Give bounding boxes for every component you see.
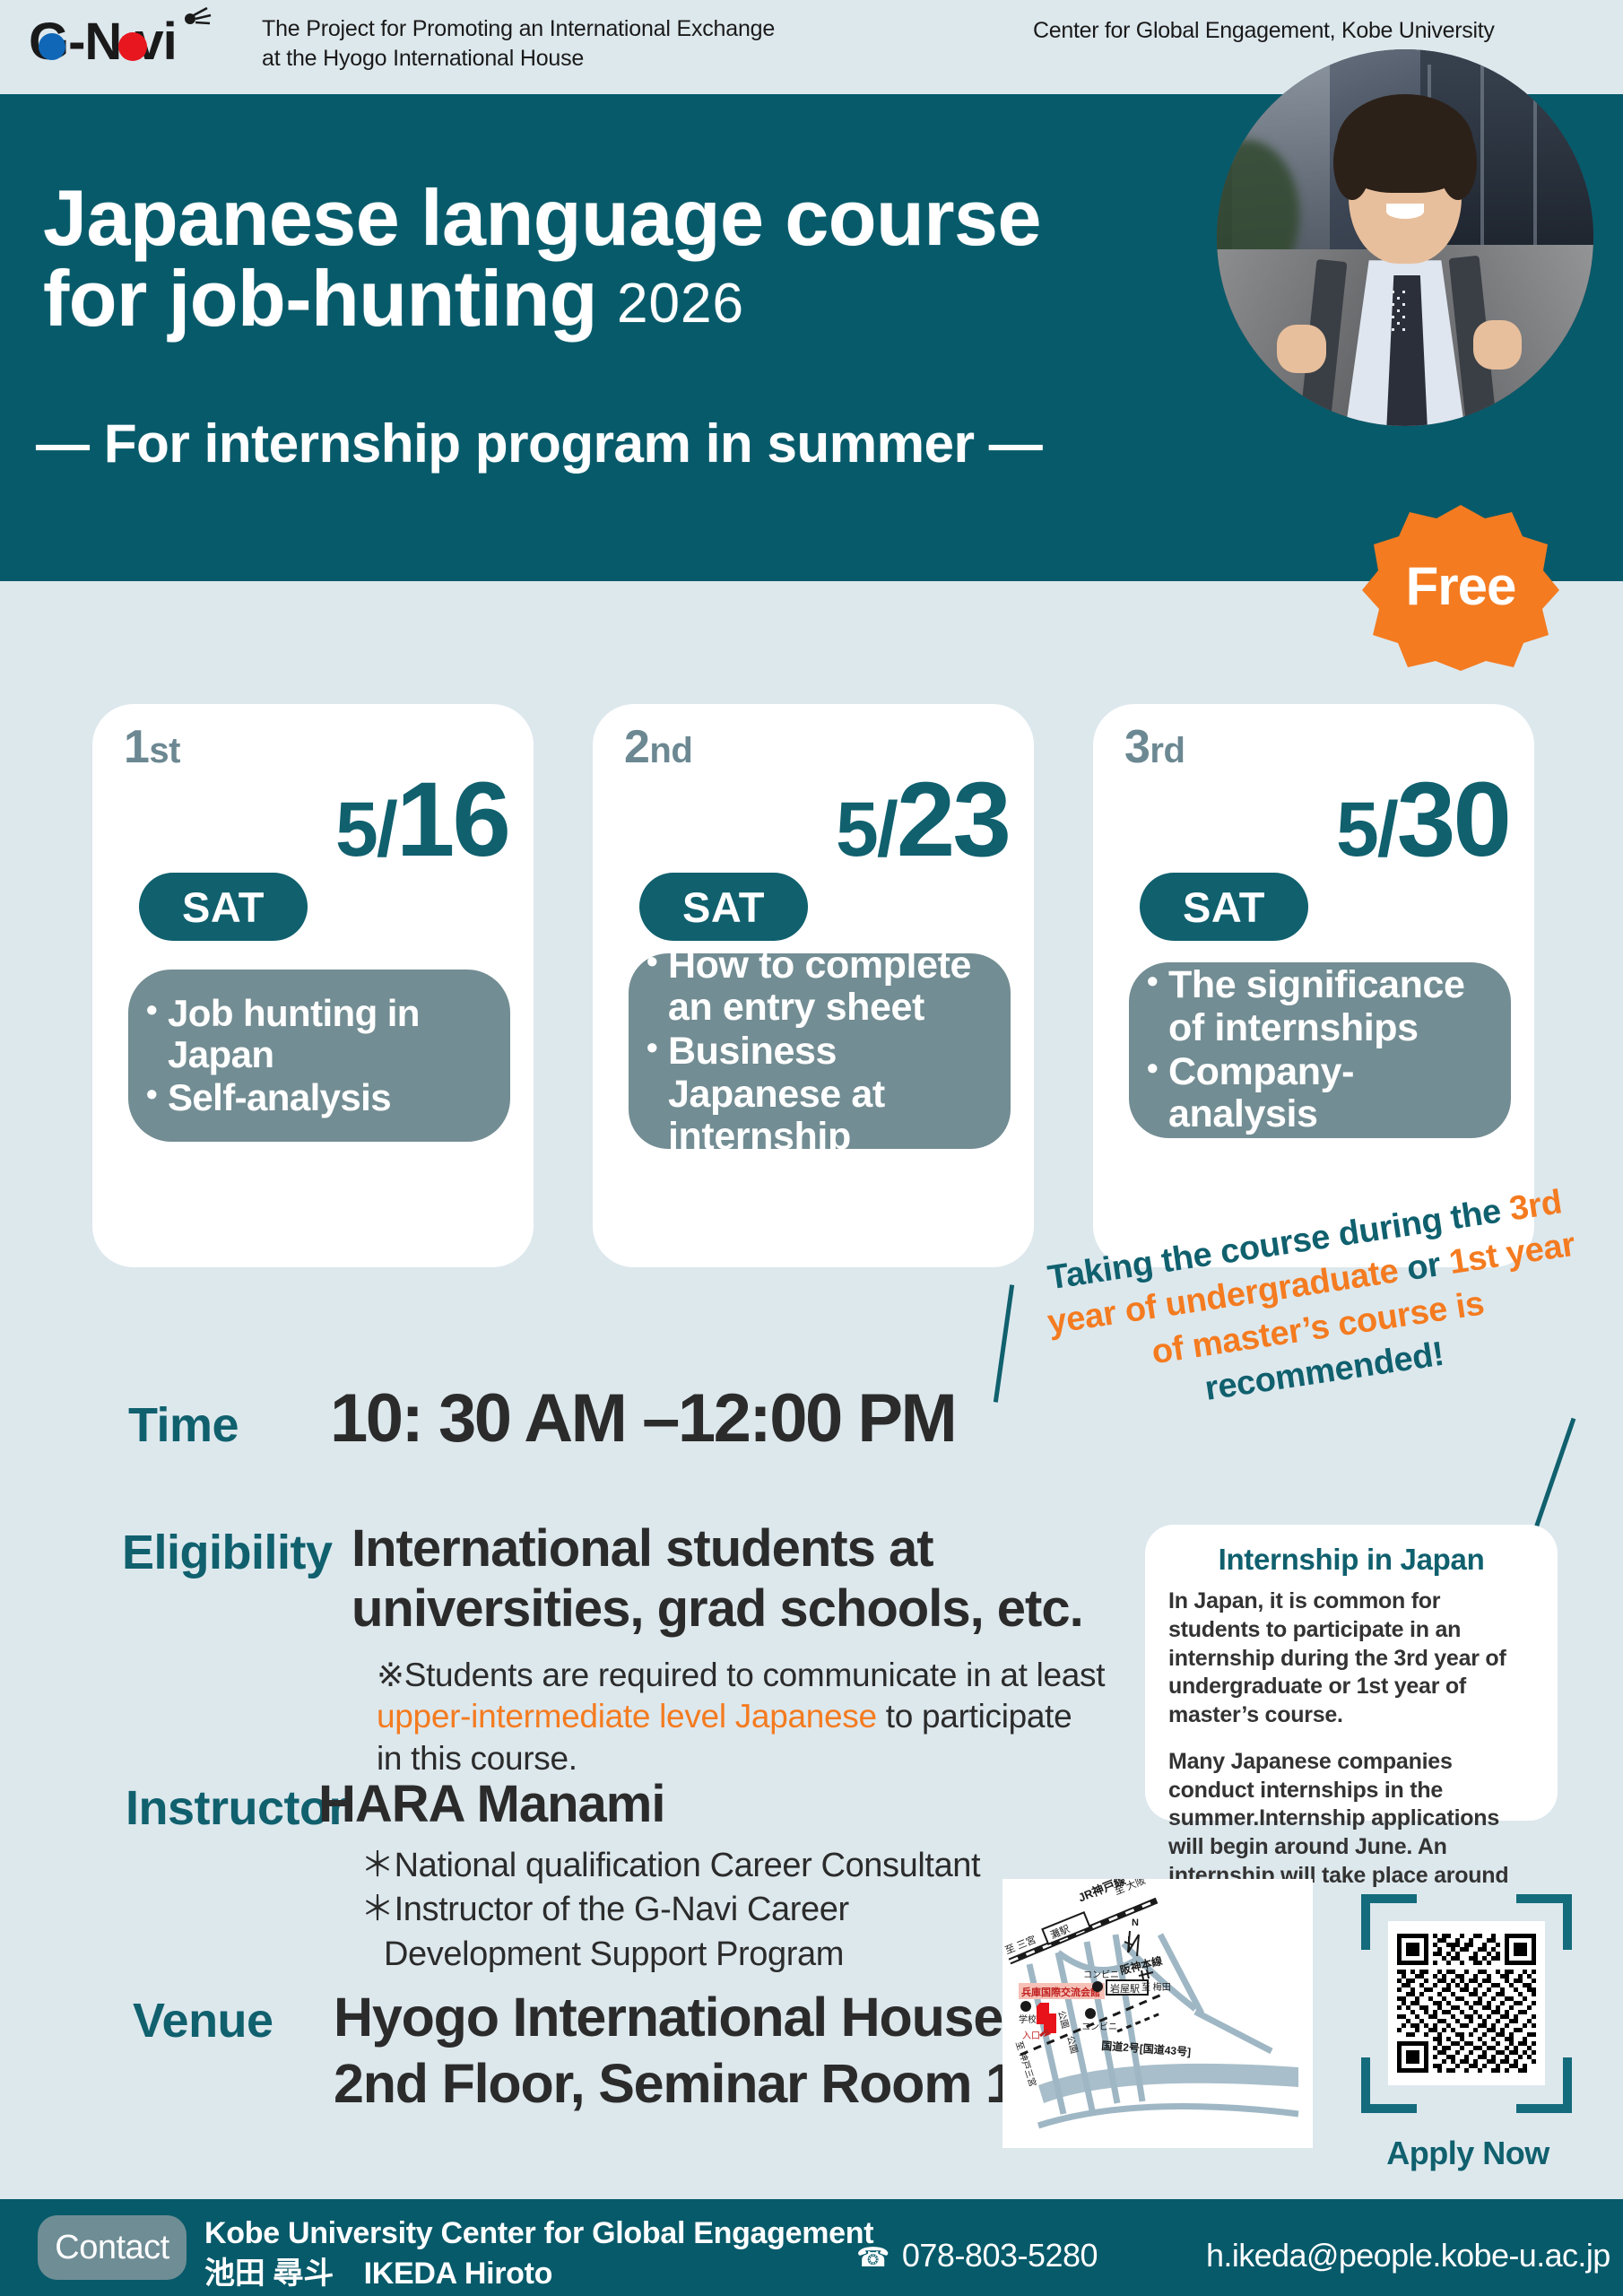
instructor-note-item: ＊Instructor of the G-Navi Career <box>360 1888 980 1932</box>
project-subtitle-line2: at the Hyogo International House <box>262 44 775 74</box>
session-card: 1st 5/16 SAT Job hunting in Japan Self-a… <box>92 704 534 1267</box>
free-badge: Free <box>1361 502 1560 673</box>
card-date: 5/30 <box>1093 767 1509 873</box>
card-day: 16 <box>396 761 508 879</box>
card-date: 5/23 <box>593 767 1009 873</box>
card-month: 5/ <box>335 787 396 873</box>
hero-subtitle: — For internship program in summer — <box>36 413 1042 474</box>
card-month: 5/ <box>836 787 897 873</box>
free-badge-label: Free <box>1361 502 1560 673</box>
card-day-of-week: SAT <box>139 873 308 941</box>
info-box-title: Internship in Japan <box>1168 1543 1534 1577</box>
card-day: 23 <box>897 761 1009 879</box>
instructor-label: Instructor <box>126 1780 347 1836</box>
session-card: 3rd 5/30 SAT The significance of interns… <box>1093 704 1534 1267</box>
instructor-note-item: ＊National qualification Career Consultan… <box>360 1844 980 1888</box>
contact-phone: ☎078-803-5280 <box>856 2237 1098 2274</box>
card-date: 5/16 <box>92 767 508 873</box>
eligibility-note: ※Students are required to communicate in… <box>377 1655 1105 1779</box>
instructor-note-item: Development Support Program <box>360 1933 980 1977</box>
card-ordinal: 1st <box>124 720 180 774</box>
card-topic-item: Self-analysis <box>144 1077 490 1118</box>
time-label: Time <box>128 1397 239 1453</box>
svg-text:N: N <box>1132 1918 1139 1928</box>
recommend-part3: or <box>1404 1246 1443 1288</box>
card-topic-item: How to complete an entry sheet <box>645 944 991 1030</box>
svg-text:入口: 入口 <box>1022 2031 1040 2041</box>
session-card: 2nd 5/23 SAT How to complete an entry sh… <box>593 704 1034 1267</box>
student-photo <box>1217 49 1593 426</box>
svg-text:学校: 学校 <box>1019 2013 1037 2025</box>
card-topic-item: The significance of internships <box>1145 964 1491 1049</box>
card-day-of-week: SAT <box>639 873 808 941</box>
recommend-bracket-left <box>994 1284 1014 1402</box>
venue-value: Hyogo International House 2nd Floor, Sem… <box>334 1984 1015 2118</box>
instructor-value: HARA Manami <box>318 1774 664 1834</box>
hero-title: Japanese language course for job-hunting… <box>43 178 1041 339</box>
venue-label: Venue <box>133 1993 273 2048</box>
qr-code-block[interactable] <box>1361 1894 1572 2113</box>
contact-organization: Kobe University Center for Global Engage… <box>204 2213 873 2294</box>
eligibility-label: Eligibility <box>122 1525 333 1580</box>
contact-org-line2: 池田 尋斗 IKEDA Hiroto <box>204 2254 873 2294</box>
contact-footer: Contact Kobe University Center for Globa… <box>0 2199 1623 2296</box>
eligibility-note-pre: ※Students are required to communicate in… <box>377 1657 1105 1693</box>
hero-title-line2: for job-hunting <box>43 254 597 343</box>
card-ordinal: 2nd <box>624 720 692 774</box>
venue-line1: Hyogo International House <box>334 1984 1015 2050</box>
card-ordinal: 3rd <box>1124 720 1185 774</box>
svg-text:岩屋駅: 岩屋駅 <box>1110 1982 1140 1995</box>
hero-title-line1: Japanese language course <box>43 173 1041 262</box>
card-day-of-week: SAT <box>1140 873 1308 941</box>
apply-now-label[interactable]: Apply Now <box>1369 2135 1567 2172</box>
card-topics: Job hunting in Japan Self-analysis <box>128 970 510 1142</box>
card-month: 5/ <box>1336 787 1397 873</box>
qr-bracket-tl2 <box>1361 1894 1370 1950</box>
svg-text:至 梅田: 至 梅田 <box>1141 1981 1171 1993</box>
eligibility-note-highlight: upper-intermediate level Japanese <box>377 1698 877 1735</box>
time-value: 10: 30 AM –12:00 PM <box>330 1379 955 1457</box>
card-topic-item: Business Japanese at internship <box>645 1031 991 1158</box>
qr-bracket-tr2 <box>1563 1894 1572 1950</box>
qr-bracket-br2 <box>1563 2057 1572 2113</box>
venue-line2: 2nd Floor, Seminar Room 1 <box>334 2050 1015 2117</box>
svg-text:コンビニ: コンビニ <box>1083 1970 1119 1980</box>
eligibility-value: International students atuniversities, g… <box>352 1518 1083 1639</box>
g-navi-logo: G-N vi <box>27 7 260 77</box>
contact-org-line1: Kobe University Center for Global Engage… <box>204 2213 873 2254</box>
contact-email[interactable]: h.ikeda@people.kobe-u.ac.jp <box>1206 2237 1610 2274</box>
contact-phone-number: 078-803-5280 <box>902 2237 1098 2274</box>
card-topics: The significance of internships Company-… <box>1129 962 1511 1138</box>
card-day: 30 <box>1397 761 1509 879</box>
project-subtitle: The Project for Promoting an Internation… <box>262 14 775 73</box>
svg-text:兵庫国際交流会館: 兵庫国際交流会館 <box>1021 1986 1100 1998</box>
qr-bracket-bl2 <box>1361 2057 1370 2113</box>
organization-name: Center for Global Engagement, Kobe Unive… <box>1033 18 1495 44</box>
venue-map: 灘駅 JR神戸線 至 大阪 至 三宮 岩屋駅 阪神本線 至 梅田 国道2号[国道… <box>1002 1879 1313 2148</box>
instructor-notes: ＊National qualification Career Consultan… <box>360 1844 980 1977</box>
qr-code-image <box>1388 1921 1545 2085</box>
card-topic-item: Company-analysis <box>1145 1051 1491 1136</box>
info-box-paragraph: In Japan, it is common for students to p… <box>1168 1587 1534 1730</box>
session-cards: 1st 5/16 SAT Job hunting in Japan Self-a… <box>0 704 1623 1269</box>
card-topic-item: Job hunting in Japan <box>144 993 490 1075</box>
project-subtitle-line1: The Project for Promoting an Internation… <box>262 14 775 44</box>
card-topics: How to complete an entry sheet Business … <box>629 953 1011 1149</box>
internship-info-box: Internship in Japan In Japan, it is comm… <box>1145 1525 1558 1821</box>
svg-text:コンビニ: コンビニ <box>1081 2022 1117 2032</box>
hero-year: 2026 <box>617 273 744 335</box>
contact-badge: Contact <box>38 2215 187 2280</box>
recommend-bracket-right <box>1533 1418 1576 1531</box>
telephone-icon: ☎ <box>856 2243 890 2273</box>
